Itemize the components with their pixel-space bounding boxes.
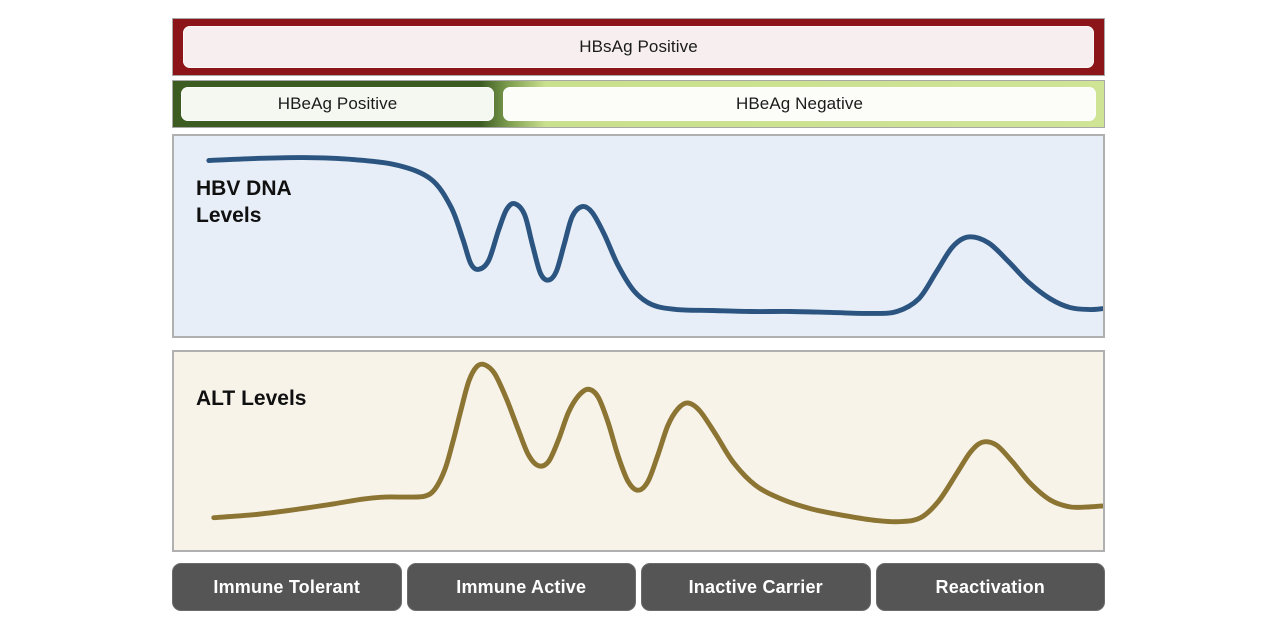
phase-button-immune-tolerant[interactable]: Immune Tolerant <box>172 563 402 611</box>
phase-label: Immune Active <box>456 577 586 598</box>
hbv-dna-curve-svg <box>174 136 1103 336</box>
hbeag-status-banner: HBeAg Positive HBeAg Negative <box>172 80 1105 128</box>
phase-label: Reactivation <box>936 577 1045 598</box>
phase-button-inactive-carrier[interactable]: Inactive Carrier <box>641 563 871 611</box>
hbv-phases-figure: HBsAg Positive HBeAg Positive HBeAg Nega… <box>0 0 1280 626</box>
hbsag-status-banner: HBsAg Positive <box>172 18 1105 76</box>
hbv-dna-curve-line <box>209 158 1103 314</box>
alt-chart-panel: ALT Levels <box>172 350 1105 552</box>
hbeag-positive-label: HBeAg Positive <box>181 87 494 121</box>
alt-curve-svg <box>174 352 1103 550</box>
phase-label: Immune Tolerant <box>213 577 360 598</box>
hbsag-positive-label: HBsAg Positive <box>183 26 1094 68</box>
phase-button-reactivation[interactable]: Reactivation <box>876 563 1106 611</box>
hbeag-negative-label: HBeAg Negative <box>503 87 1096 121</box>
phase-button-immune-active[interactable]: Immune Active <box>407 563 637 611</box>
alt-axis-label: ALT Levels <box>196 386 306 413</box>
hbv-dna-chart-panel: HBV DNA Levels <box>172 134 1105 338</box>
alt-curve-line <box>214 364 1103 522</box>
phase-legend-row: Immune Tolerant Immune Active Inactive C… <box>172 563 1105 611</box>
phase-label: Inactive Carrier <box>689 577 823 598</box>
hbv-dna-axis-label: HBV DNA Levels <box>196 176 292 230</box>
